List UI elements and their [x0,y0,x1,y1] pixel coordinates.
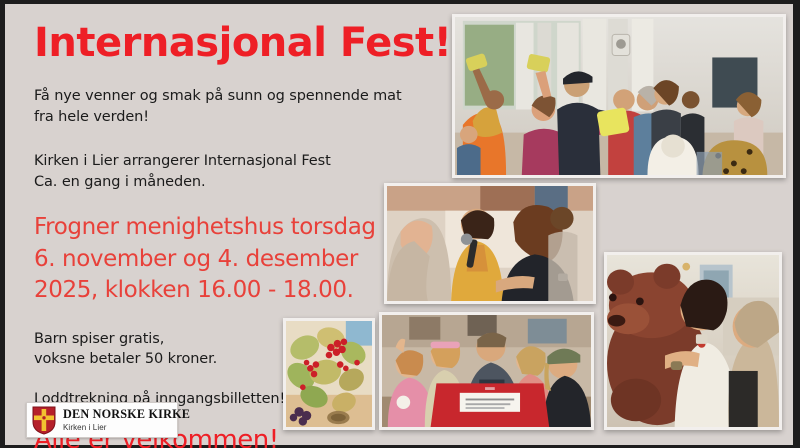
autumn-leaves-and-red-berries-photo [283,318,375,430]
church-logo: DEN NORSKE KIRKE Kirken i Lier [26,402,178,438]
event-details: Frogner menighetshus torsdag 6. november… [34,212,434,307]
organizer-line-1: Kirken i Lier arrangerer Internasjonal F… [34,151,434,172]
logo-organization-name: DEN NORSKE KIRKE [63,408,190,421]
people-dancing-with-yellow-cloths-photo [452,14,786,178]
organizer-paragraph: Kirken i Lier arrangerer Internasjonal F… [34,151,434,192]
frame-edge-left [0,0,5,448]
three-women-laughing-with-microphone-photo [384,183,596,304]
frame-edge-top [0,0,800,4]
poster-title: Internasjonal Fest! [34,22,434,64]
organizer-line-2: Ca. en gang i måneden. [34,172,434,193]
intro-paragraph: Få nye venner og smak på sunn og spennen… [34,86,434,127]
intro-line-1: Få nye venner og smak på sunn og spennen… [34,86,434,107]
event-line-3: 2025, klokken 16.00 - 18.00. [34,275,434,307]
frame-edge-right [793,0,800,448]
logo-text-block: DEN NORSKE KIRKE Kirken i Lier [63,408,190,432]
event-line-1: Frogner menighetshus torsdag [34,212,434,244]
poster-canvas: Internasjonal Fest! Få nye venner og sma… [0,0,800,448]
intro-line-2: fra hele verden! [34,107,434,128]
child-hugging-large-teddy-bear-photo [604,252,782,430]
event-line-2: 6. november og 4. desember [34,244,434,276]
family-group-behind-red-sign-photo [379,312,594,430]
logo-parish-name: Kirken i Lier [63,423,190,432]
norwegian-church-shield-cross-icon [32,406,56,435]
